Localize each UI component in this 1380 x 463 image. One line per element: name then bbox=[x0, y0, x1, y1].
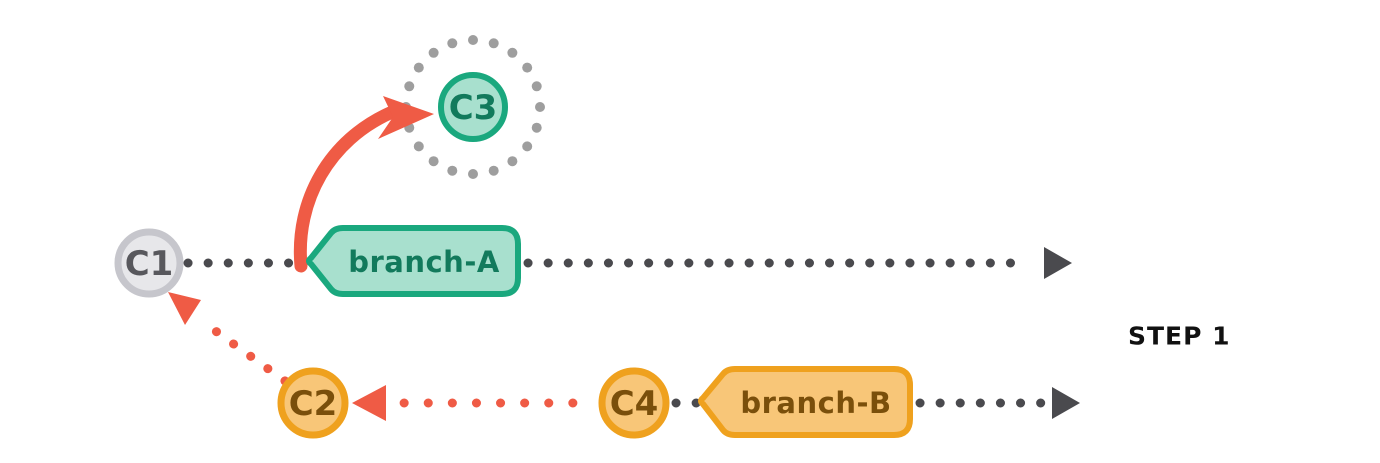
commit-node-c3[interactable]: C3 bbox=[441, 75, 505, 139]
c3-ring-dot bbox=[522, 63, 532, 73]
branch-tag-branch-b-label: branch-B bbox=[740, 386, 891, 420]
c2-to-c1-dotted-arrow bbox=[168, 292, 285, 381]
c3-ring-dot bbox=[535, 102, 545, 112]
branch-tag-branch-a-label: branch-A bbox=[348, 245, 500, 279]
step-label: STEP 1 bbox=[1128, 322, 1231, 351]
c3-ring-dot bbox=[532, 123, 542, 133]
commit-node-c2-label: C2 bbox=[289, 384, 338, 424]
timeline-bottom-arrowhead bbox=[1052, 387, 1080, 419]
c2-to-c1-arrowhead bbox=[168, 292, 201, 325]
c3-ring-dot bbox=[532, 81, 542, 91]
c3-ring-dot bbox=[404, 81, 414, 91]
c3-ring-dot bbox=[429, 156, 439, 166]
c3-ring-dot bbox=[447, 166, 457, 176]
c3-ring-dot bbox=[429, 48, 439, 58]
c3-ring-dot bbox=[468, 35, 478, 45]
timeline-top-arrowhead bbox=[1044, 247, 1072, 279]
git-branch-diagram: C1 C3 C2 C4 branch-A branch-B STEP 1 bbox=[0, 0, 1380, 463]
c3-ring-dot bbox=[522, 141, 532, 151]
commit-node-c4-label: C4 bbox=[610, 384, 659, 424]
c3-ring-dot bbox=[489, 38, 499, 48]
c3-ring-dot bbox=[507, 48, 517, 58]
c4-to-c2-dotted-arrow bbox=[352, 385, 596, 421]
c3-ring-dot bbox=[468, 169, 478, 179]
branch-tag-branch-b[interactable]: branch-B bbox=[701, 369, 910, 435]
commit-node-c1-label: C1 bbox=[125, 244, 174, 284]
commit-node-c3-label: C3 bbox=[449, 88, 498, 128]
c3-ring-dot bbox=[414, 63, 424, 73]
branch-tag-branch-a[interactable]: branch-A bbox=[309, 228, 518, 294]
c4-to-c2-arrowhead bbox=[352, 385, 386, 421]
commit-node-c2[interactable]: C2 bbox=[281, 371, 345, 435]
diagram-canvas: C1 C3 C2 C4 branch-A branch-B STEP 1 bbox=[0, 0, 1380, 463]
commit-node-c4[interactable]: C4 bbox=[602, 371, 666, 435]
commit-node-c1[interactable]: C1 bbox=[118, 232, 180, 294]
c2-to-c1-dotted-line bbox=[203, 322, 285, 381]
c3-ring-dot bbox=[447, 38, 457, 48]
c3-ring-dot bbox=[489, 166, 499, 176]
c3-ring-dot bbox=[507, 156, 517, 166]
c3-ring-dot bbox=[414, 141, 424, 151]
